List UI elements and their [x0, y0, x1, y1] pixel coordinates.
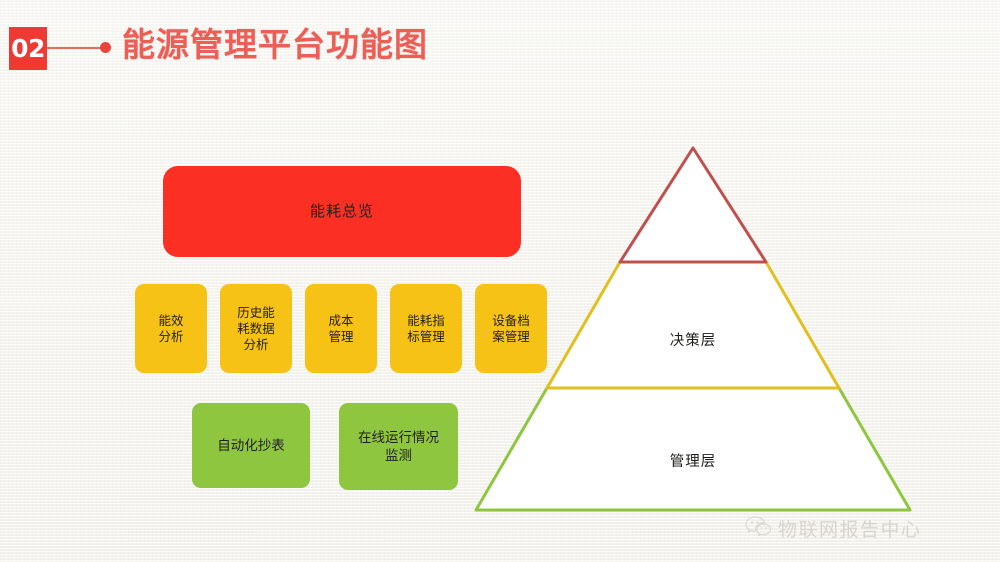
pyramid-diagram: 决策层 管理层 操作层 — [455, 130, 935, 530]
watermark-text: 物联网报告中心 — [778, 515, 922, 542]
pyramid-label-management: 管理层 — [670, 450, 717, 471]
pyramid-layer-management-shape[interactable] — [547, 262, 839, 388]
function-box-online-operation-monitoring[interactable]: 在线运行情况监测 — [339, 403, 458, 490]
function-box-historical-energy-data-analysis[interactable]: 历史能耗数据分析 — [220, 284, 292, 373]
slide-canvas: 02 能源管理平台功能图 能耗总览 能效分析 历史能耗数据分析 成本管理 能耗指… — [0, 0, 1000, 562]
section-number-text: 02 — [11, 36, 45, 61]
function-box-cost-management[interactable]: 成本管理 — [305, 284, 377, 373]
wechat-icon — [745, 515, 771, 542]
slide-header: 02 能源管理平台功能图 — [0, 0, 1000, 100]
page-title: 能源管理平台功能图 — [122, 20, 428, 70]
section-number-badge: 02 — [9, 27, 47, 70]
header-connector-line — [47, 47, 103, 49]
pyramid-layer-decision-shape[interactable] — [620, 148, 766, 262]
header-connector-dot — [100, 42, 111, 53]
function-box-energy-indicator-management[interactable]: 能耗指标管理 — [390, 284, 462, 373]
function-box-automatic-meter-reading[interactable]: 自动化抄表 — [192, 403, 310, 488]
watermark: 物联网报告中心 — [745, 515, 922, 542]
pyramid-layer-operation-shape[interactable] — [476, 388, 910, 510]
function-box-energy-efficiency-analysis[interactable]: 能效分析 — [135, 284, 207, 373]
wechat-icon-svg — [745, 515, 771, 537]
pyramid-label-decision: 决策层 — [670, 329, 717, 350]
